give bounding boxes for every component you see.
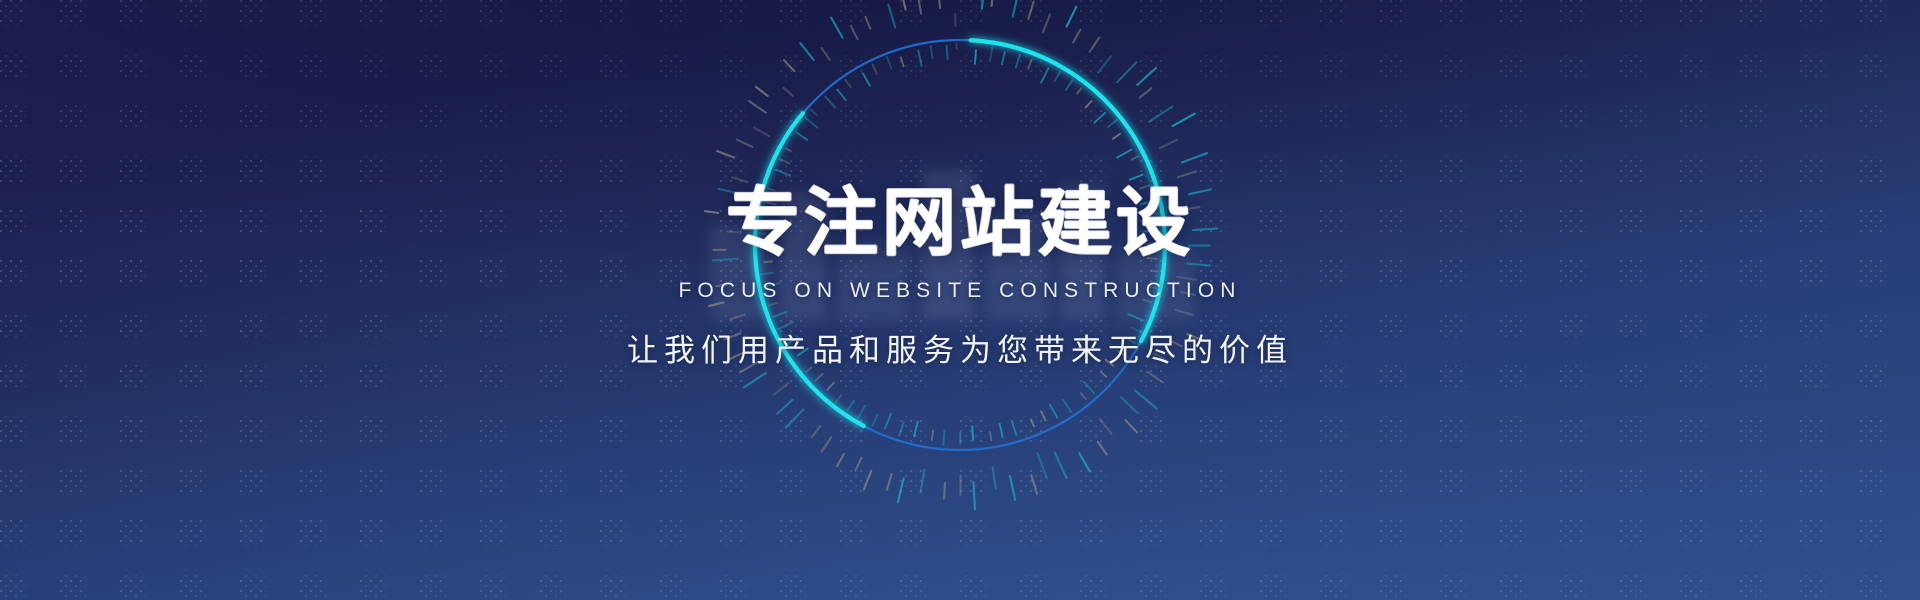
banner-headline: 专注网站建设 bbox=[726, 186, 1194, 260]
banner-tagline: 让我们用产品和服务为您带来无尽的价值 bbox=[627, 325, 1293, 370]
banner-subheadline: FOCUS ON WEBSITE CONSTRUCTION bbox=[678, 279, 1241, 303]
banner-content: 专注网站建设 FOCUS ON WEBSITE CONSTRUCTION 让我们… bbox=[0, 0, 1920, 600]
hero-banner: 专注网站建设 FOCUS ON WEBSITE CONSTRUCTION 让我们… bbox=[0, 0, 1920, 600]
